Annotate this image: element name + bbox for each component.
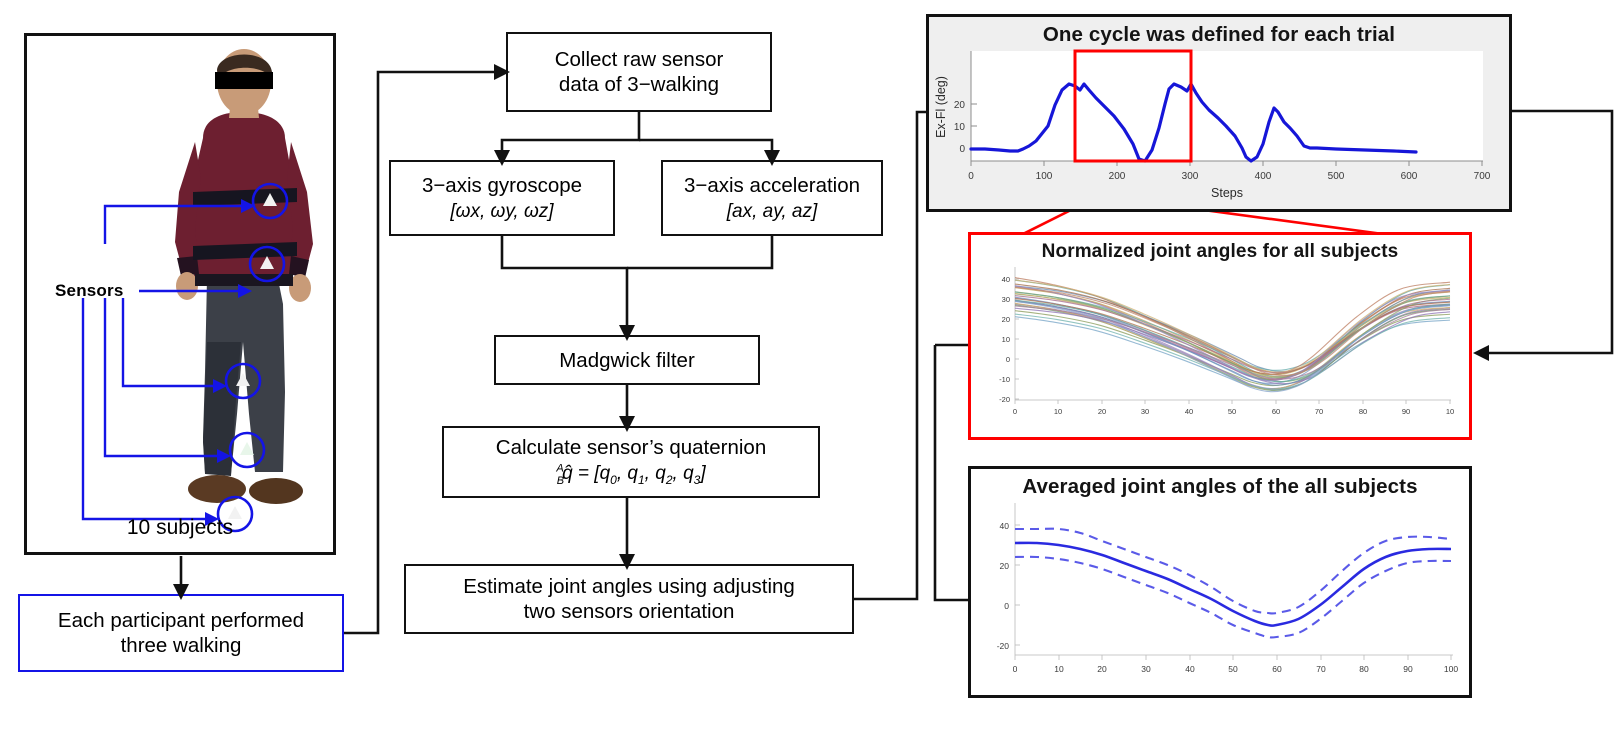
svg-text:10: 10 xyxy=(1054,664,1064,674)
svg-text:0: 0 xyxy=(959,144,965,155)
normalized-trace xyxy=(1015,293,1450,374)
svg-text:0: 0 xyxy=(968,171,974,182)
svg-text:90: 90 xyxy=(1403,664,1413,674)
averaged-chart-svg: 40 20 0 -20 0 10 20 30 40 50 60 70 80 90… xyxy=(971,499,1469,693)
svg-text:100: 100 xyxy=(1444,664,1458,674)
svg-text:20: 20 xyxy=(1098,407,1106,416)
one-cycle-chart-svg: 0 10 20 0 100 200 300 400 500 600 700 St… xyxy=(929,45,1509,205)
normalized-chart-title: Normalized joint angles for all subjects xyxy=(971,241,1469,263)
svg-text:40: 40 xyxy=(1002,275,1010,284)
svg-text:-10: -10 xyxy=(999,375,1010,384)
normalized-trace-bundle xyxy=(1015,278,1450,392)
normalized-trace xyxy=(1015,286,1450,381)
one-cycle-chart-panel: One cycle was defined for each trial 0 1… xyxy=(926,14,1512,212)
svg-text:-20: -20 xyxy=(997,641,1010,651)
svg-text:0: 0 xyxy=(1006,355,1010,364)
svg-text:500: 500 xyxy=(1328,171,1345,182)
svg-text:0: 0 xyxy=(1013,664,1018,674)
svg-text:20: 20 xyxy=(1000,561,1010,571)
svg-text:700: 700 xyxy=(1474,171,1491,182)
normalized-chart-panel: Normalized joint angles for all subjects… xyxy=(968,232,1472,440)
svg-text:60: 60 xyxy=(1272,664,1282,674)
svg-text:10: 10 xyxy=(1054,407,1062,416)
averaged-sd-trace xyxy=(1015,557,1451,638)
svg-text:40: 40 xyxy=(1185,664,1195,674)
svg-text:0: 0 xyxy=(1004,601,1009,611)
svg-text:50: 50 xyxy=(1228,664,1238,674)
svg-text:70: 70 xyxy=(1315,407,1323,416)
svg-text:10: 10 xyxy=(954,122,966,133)
svg-text:40: 40 xyxy=(1000,521,1010,531)
one-cycle-xlabel: Steps xyxy=(1211,186,1243,200)
svg-text:50: 50 xyxy=(1228,407,1236,416)
svg-text:30: 30 xyxy=(1002,295,1010,304)
svg-text:70: 70 xyxy=(1316,664,1326,674)
svg-text:10: 10 xyxy=(1002,335,1010,344)
svg-text:40: 40 xyxy=(1185,407,1193,416)
svg-text:-20: -20 xyxy=(999,395,1010,404)
svg-text:30: 30 xyxy=(1141,407,1149,416)
svg-text:400: 400 xyxy=(1255,171,1272,182)
svg-text:10: 10 xyxy=(1446,407,1454,416)
svg-text:0: 0 xyxy=(1013,407,1017,416)
svg-text:20: 20 xyxy=(1097,664,1107,674)
svg-text:300: 300 xyxy=(1182,171,1199,182)
svg-text:200: 200 xyxy=(1109,171,1126,182)
one-cycle-ylabel: Ex-Fl (deg) xyxy=(934,76,948,138)
svg-text:80: 80 xyxy=(1359,664,1369,674)
svg-text:80: 80 xyxy=(1359,407,1367,416)
averaged-mean-trace xyxy=(1015,543,1451,626)
svg-text:90: 90 xyxy=(1402,407,1410,416)
svg-text:20: 20 xyxy=(1002,315,1010,324)
averaged-chart-title: Averaged joint angles of the all subject… xyxy=(971,475,1469,499)
svg-text:100: 100 xyxy=(1036,171,1053,182)
one-cycle-chart-title: One cycle was defined for each trial xyxy=(929,23,1509,47)
svg-text:20: 20 xyxy=(954,100,966,111)
averaged-trace-bundle xyxy=(1015,529,1451,638)
averaged-chart-panel: Averaged joint angles of the all subject… xyxy=(968,466,1472,698)
svg-text:30: 30 xyxy=(1141,664,1151,674)
normalized-chart-svg: 40 30 20 10 0 -10 -20 0 10 20 30 40 50 6… xyxy=(971,263,1469,433)
svg-text:600: 600 xyxy=(1401,171,1418,182)
svg-text:60: 60 xyxy=(1272,407,1280,416)
